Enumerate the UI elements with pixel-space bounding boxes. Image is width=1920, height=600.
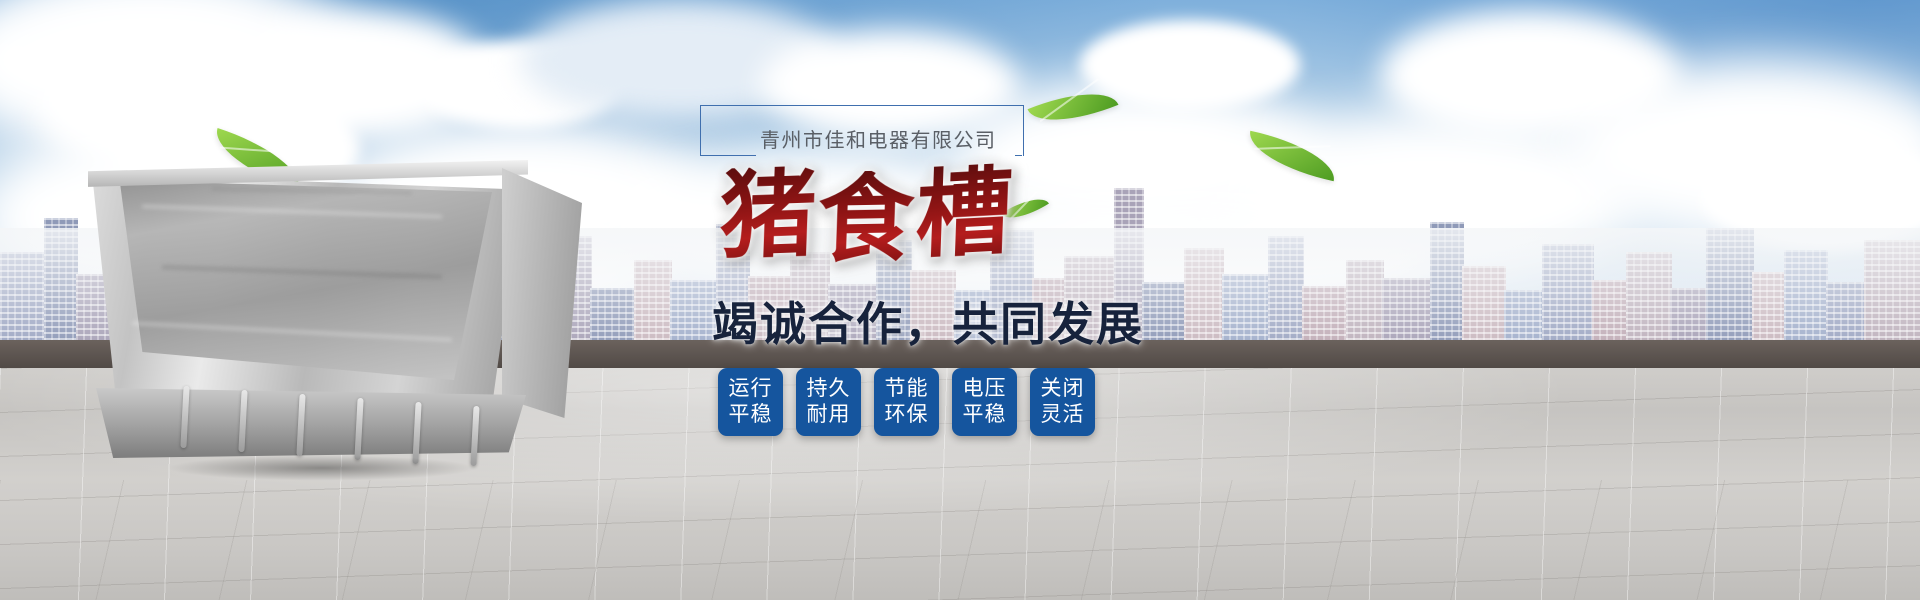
feature-badge-4: 电压 平稳	[952, 368, 1017, 436]
feature-badge-2: 持久 耐用	[796, 368, 861, 436]
company-name-frame-underline-right	[1015, 155, 1022, 156]
title-char-1: 猪	[718, 165, 818, 264]
feature-badge-1-line2: 平稳	[729, 402, 773, 428]
feature-badge-2-line1: 持久	[807, 376, 851, 402]
company-name-frame-underline-left	[700, 155, 756, 156]
feature-badge-2-line2: 耐用	[807, 402, 851, 428]
promo-banner: 青州市佳和电器有限公司 猪 食 槽 竭诚合作，共同发展 运行 平稳 持久 耐用 …	[0, 0, 1920, 600]
title-char-2: 食	[816, 170, 915, 268]
feature-badge-4-line1: 电压	[963, 376, 1007, 402]
banner-text-block: 青州市佳和电器有限公司 猪 食 槽 竭诚合作，共同发展 运行 平稳 持久 耐用 …	[700, 0, 1260, 600]
feature-badge-5-line2: 灵活	[1041, 402, 1085, 428]
title-char-3: 槽	[914, 163, 1014, 264]
product-title-calligraphy: 猪 食 槽	[720, 160, 1040, 270]
feature-badge-3-line1: 节能	[885, 376, 929, 402]
feature-badge-4-line2: 平稳	[963, 402, 1007, 428]
company-name: 青州市佳和电器有限公司	[760, 124, 1022, 153]
slogan-text: 竭诚合作，共同发展	[712, 288, 1112, 354]
feature-badge-1: 运行 平稳	[718, 368, 783, 436]
feature-badge-list: 运行 平稳 持久 耐用 节能 环保 电压 平稳 关闭 灵活	[718, 368, 1095, 436]
feature-badge-3-line2: 环保	[885, 402, 929, 428]
feature-badge-1-line1: 运行	[729, 376, 773, 402]
feature-badge-3: 节能 环保	[874, 368, 939, 436]
feature-badge-5: 关闭 灵活	[1030, 368, 1095, 436]
feature-badge-5-line1: 关闭	[1041, 376, 1085, 402]
product-image-feeder-trough	[72, 150, 592, 470]
